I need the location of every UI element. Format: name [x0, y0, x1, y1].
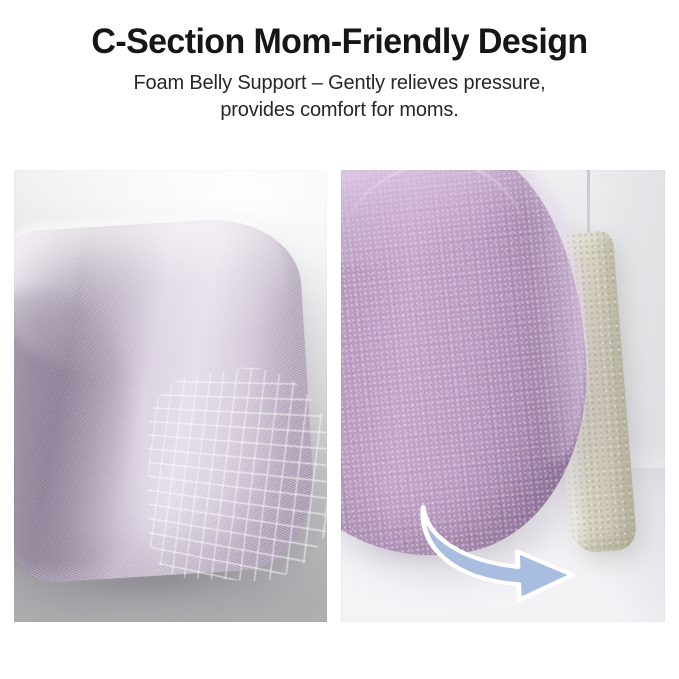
image-panel-group — [14, 170, 665, 622]
direction-arrow-shape — [422, 503, 573, 602]
pillow-grid-overlay — [148, 354, 327, 584]
subtitle-line-2: provides comfort for moms. — [8, 97, 670, 124]
product-photo-right — [341, 170, 665, 622]
subtitle-line-1: Foam Belly Support – Gently relieves pre… — [8, 70, 670, 97]
infographic-page: C-Section Mom-Friendly Design Foam Belly… — [0, 0, 679, 679]
page-title: C-Section Mom-Friendly Design — [10, 0, 669, 61]
page-subtitle: Foam Belly Support – Gently relieves pre… — [8, 61, 670, 123]
product-photo-left — [14, 170, 327, 622]
direction-arrow — [419, 506, 609, 616]
header: C-Section Mom-Friendly Design Foam Belly… — [0, 0, 679, 123]
wedge-pillow-image — [14, 215, 318, 586]
